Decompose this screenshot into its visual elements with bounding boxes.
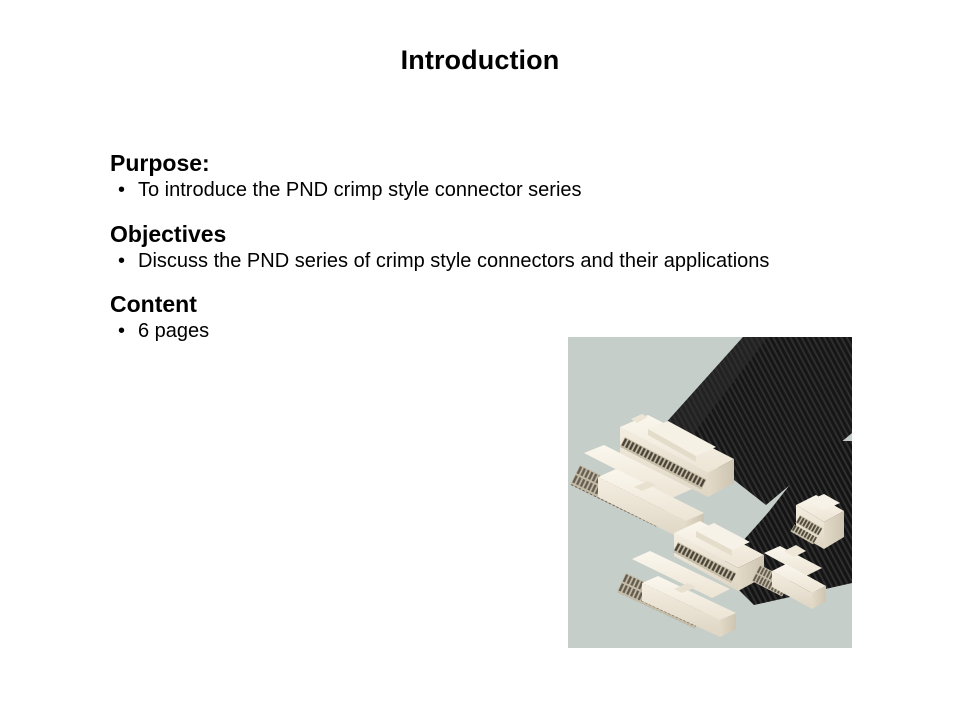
section-objectives: Objectives • Discuss the PND series of c… [110,221,810,274]
list-item: • Discuss the PND series of crimp style … [110,250,810,273]
connector-photo-illustration [568,337,852,648]
list-item: • To introduce the PND crimp style conne… [110,179,810,202]
bullet-dot-icon: • [118,179,125,202]
product-photo [568,337,852,648]
page-title: Introduction [0,46,960,76]
list-item-label: Discuss the PND series of crimp style co… [138,250,810,273]
bullet-list-objectives: • Discuss the PND series of crimp style … [110,250,810,273]
bullet-dot-icon: • [118,250,125,273]
slide-introduction: Introduction Purpose: • To introduce the… [0,0,960,720]
slide-body: Purpose: • To introduce the PND crimp st… [110,150,810,345]
list-item-label: To introduce the PND crimp style connect… [138,179,810,202]
bullet-list-purpose: • To introduce the PND crimp style conne… [110,179,810,202]
spacer [110,204,810,221]
section-purpose: Purpose: • To introduce the PND crimp st… [110,150,810,203]
section-content: Content • 6 pages [110,291,810,344]
section-heading-purpose: Purpose: [110,150,810,177]
bullet-dot-icon: • [118,320,125,343]
spacer [110,274,810,291]
section-heading-content: Content [110,291,810,318]
section-heading-objectives: Objectives [110,221,810,248]
